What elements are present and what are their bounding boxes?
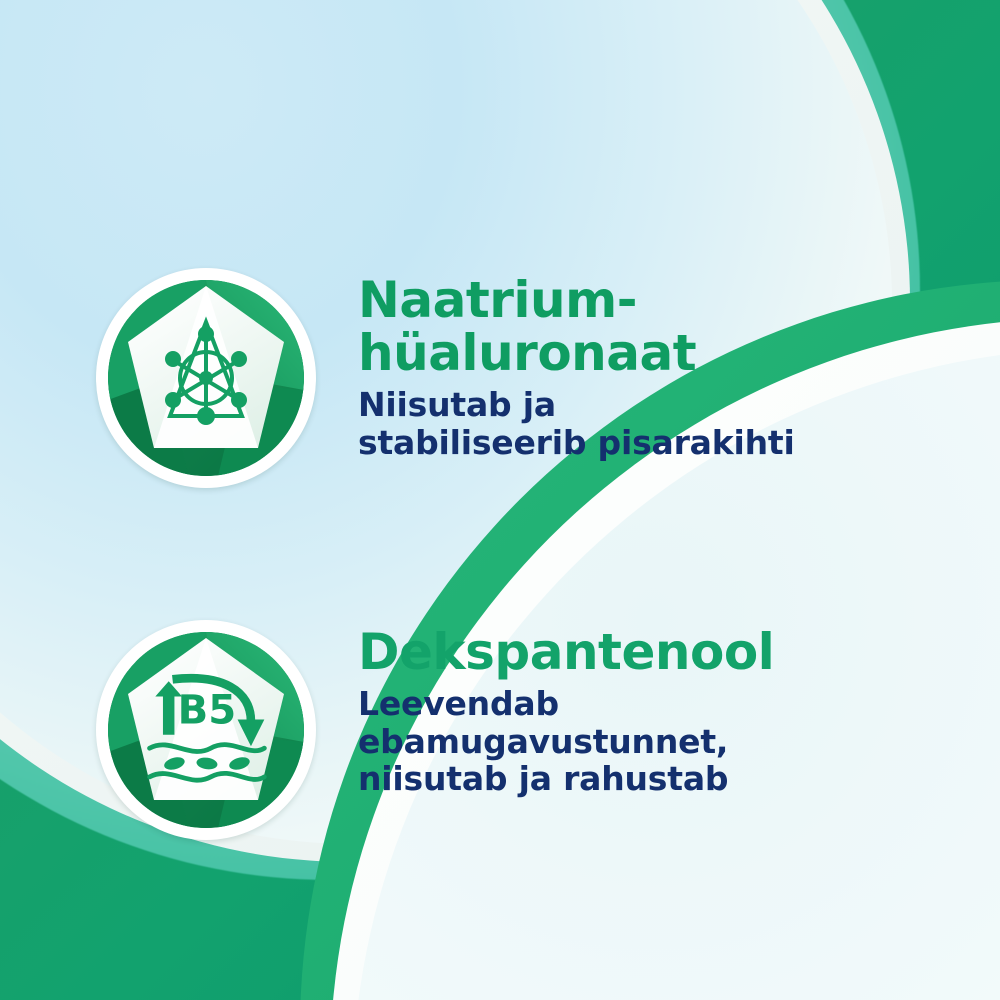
promo-graphic: Naatrium- hüaluronaat Niisutab ja stabil… (0, 0, 1000, 1000)
feature-subtitle: Leevendab ebamugavustunnet, niisutab ja … (358, 685, 774, 798)
feature-text-block: Naatrium- hüaluronaat Niisutab ja stabil… (358, 268, 795, 461)
feature-text-block: Dekspantenool Leevendab ebamugavustunnet… (358, 620, 774, 798)
b5-label: B5 (178, 687, 237, 733)
feature-title: Naatrium- hüaluronaat (358, 274, 795, 380)
feature-subtitle: Niisutab ja stabiliseerib pisarakihti (358, 386, 795, 461)
feature-row-dexpanthenol: B5 Dekspantenool Leevendab ebamugavustun… (96, 620, 774, 840)
badge-hyaluronate (96, 268, 316, 488)
feature-row-hyaluronate: Naatrium- hüaluronaat Niisutab ja stabil… (96, 268, 795, 488)
badge-dexpanthenol: B5 (96, 620, 316, 840)
molecule-graphic (140, 312, 272, 444)
hyaluronic-acid-molecule-icon (140, 312, 272, 444)
b5-skin-layer-graphic: B5 (140, 661, 272, 799)
b5-dexpanthenol-icon: B5 (140, 664, 272, 796)
feature-title: Dekspantenool (358, 626, 774, 679)
